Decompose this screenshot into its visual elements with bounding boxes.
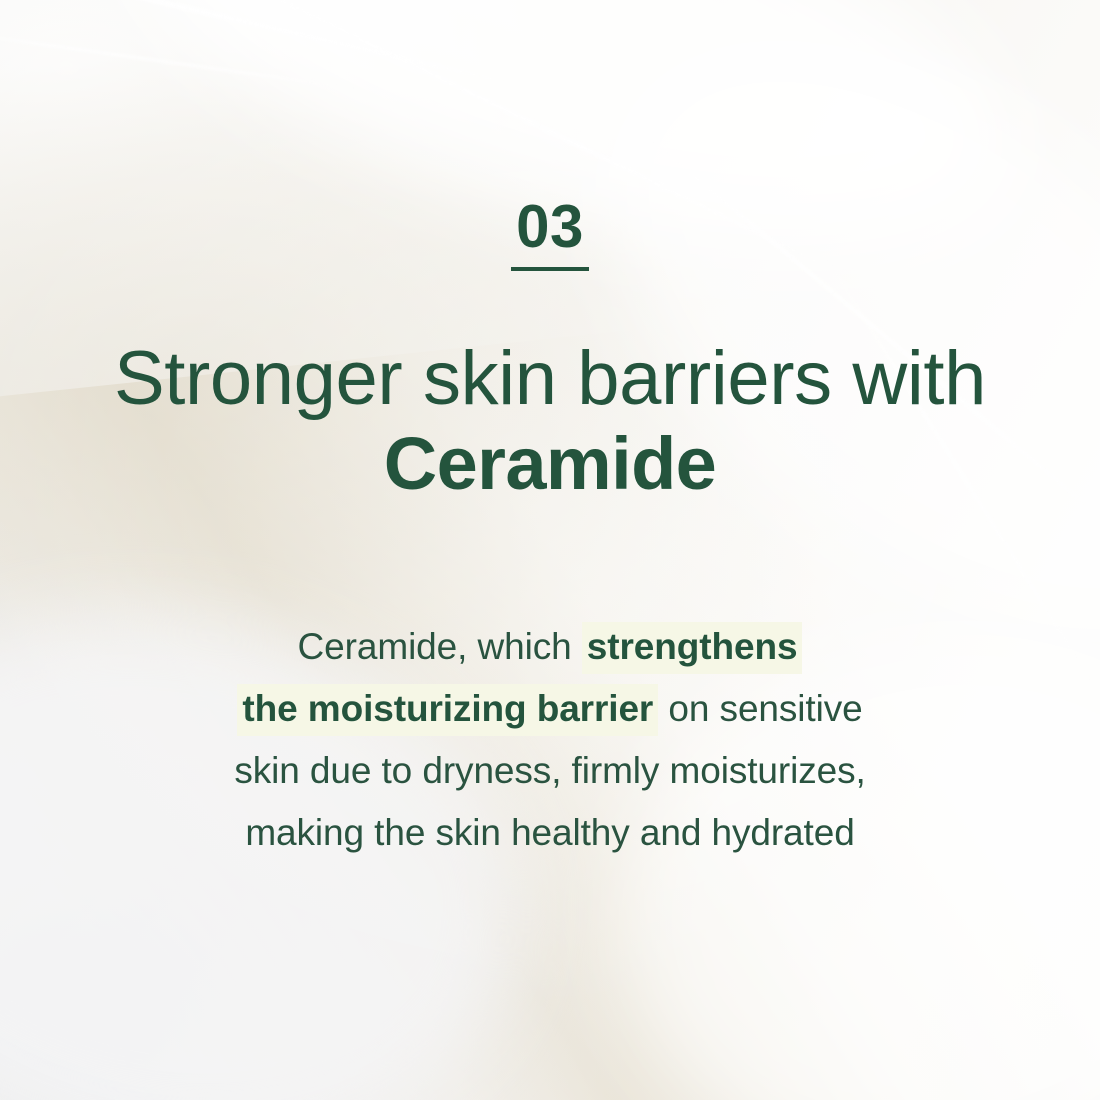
headline-line-primary: Stronger skin barriers with [0,336,1100,422]
page-title: Stronger skin barriers with Ceramide [0,336,1100,506]
body-line-3: skin due to dryness, firmly moisturizes, [0,740,1100,802]
body-line-1-text: Ceramide, which [298,626,582,667]
highlight-strengthens: strengthens [582,622,803,674]
headline-line-emphasis: Ceramide [0,422,1100,506]
body-line-1: Ceramide, which strengthens [0,616,1100,678]
body-paragraph: Ceramide, which strengthens the moisturi… [0,616,1100,864]
step-number-underline [511,267,589,271]
step-number-block: 03 [0,196,1100,271]
step-number: 03 [0,196,1100,258]
ceramide-benefit-banner: 03 Stronger skin barriers with Ceramide … [0,0,1100,1100]
highlight-moisturizing-barrier: the moisturizing barrier [237,684,658,736]
banner-content: 03 Stronger skin barriers with Ceramide … [0,0,1100,1100]
body-line-2: the moisturizing barrier on sensitive [0,678,1100,740]
body-line-2-text: on sensitive [658,688,862,729]
body-line-4: making the skin healthy and hydrated [0,802,1100,864]
